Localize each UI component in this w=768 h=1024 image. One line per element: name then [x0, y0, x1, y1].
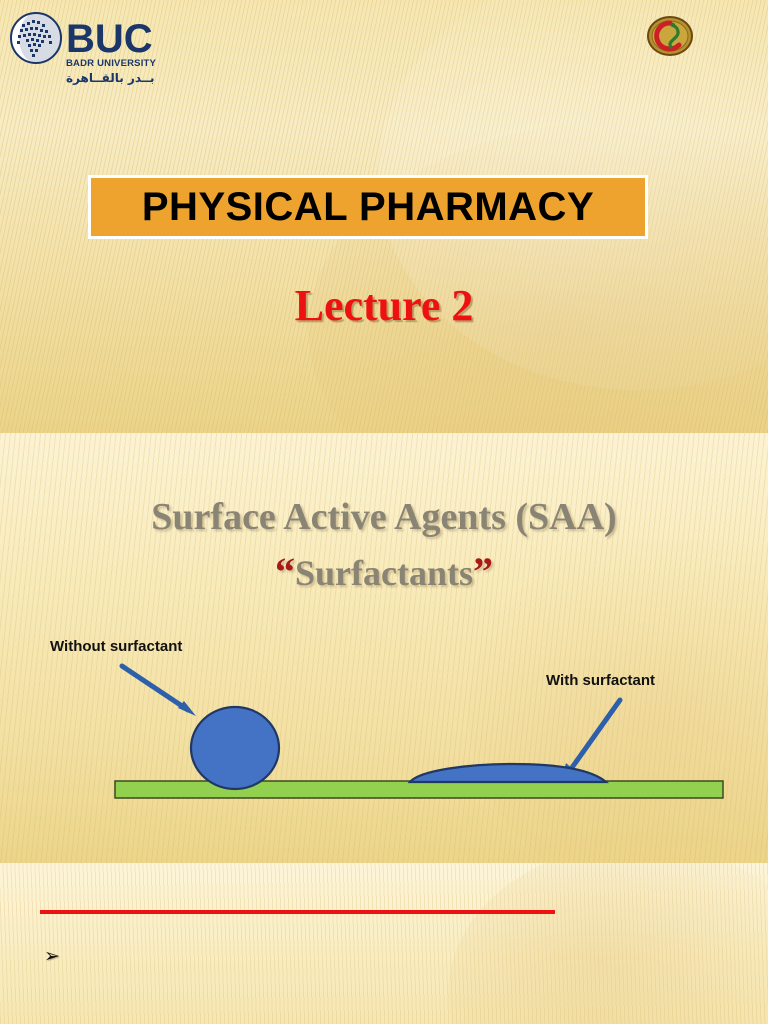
background-swirl-bottom: [448, 863, 768, 1024]
surfactant-wetting-diagram: Without surfactant With surfactant: [0, 600, 768, 840]
arrow-to-non-wetting-droplet: [122, 666, 196, 716]
buc-arabic-name: جامعة بــدر بالقــاهرة: [66, 71, 158, 85]
globe-icon: [11, 13, 61, 63]
section-heading: Surface Active Agents (SAA): [0, 495, 768, 539]
close-quote-mark: ”: [473, 549, 493, 594]
pharmacy-faculty-emblem: [646, 14, 694, 58]
section-subheading-text: Surfactants: [295, 553, 473, 593]
background-swirl-shade: [308, 120, 768, 433]
open-quote-mark: “: [275, 549, 295, 594]
background-band-bottom: [0, 863, 768, 1024]
section-subheading: “Surfactants”: [0, 548, 768, 595]
buc-university-logo: BUC BADR UNIVERSITY IN CAIRO جامعة بــدر…: [8, 8, 158, 92]
course-title-bar: PHYSICAL PHARMACY: [88, 175, 648, 239]
presentation-slide: BUC BADR UNIVERSITY IN CAIRO جامعة بــدر…: [0, 0, 768, 1024]
page-title: PHYSICAL PHARMACY: [142, 185, 594, 230]
buc-english-name: BADR UNIVERSITY IN CAIRO: [66, 58, 158, 69]
surface-bar: [115, 781, 723, 798]
pharmacy-bowl-of-hygieia-icon: [646, 14, 694, 58]
wetting-droplet: [410, 764, 606, 782]
buc-acronym: BUC: [66, 17, 153, 61]
buc-logo-svg: BUC BADR UNIVERSITY IN CAIRO جامعة بــدر…: [8, 8, 158, 92]
content-divider: [40, 910, 555, 914]
non-wetting-droplet: [191, 707, 279, 789]
bullet-arrow-icon: ➢: [44, 944, 66, 968]
background-texture-stripes-vertical: [0, 863, 768, 1024]
lecture-number-label: Lecture 2: [0, 280, 768, 331]
diagram-canvas: [0, 600, 768, 840]
